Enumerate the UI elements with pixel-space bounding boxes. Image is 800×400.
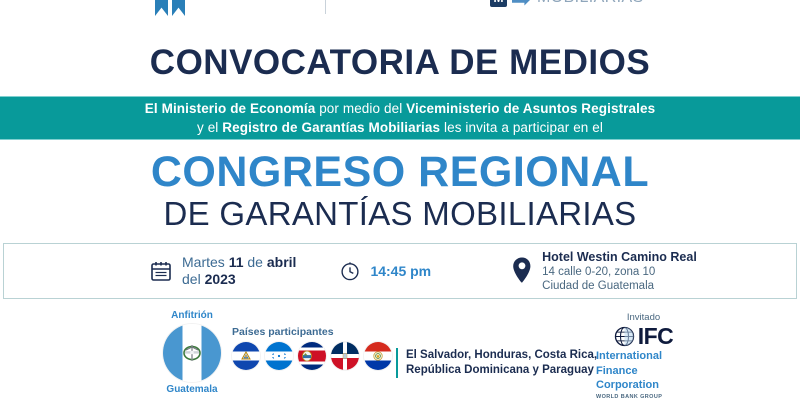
venue-city: Ciudad de Guatemala [542,279,697,293]
dominican-crest-icon [342,353,349,360]
map-pin-icon [511,256,533,286]
intro-connector-2: y el [197,120,222,135]
venue-cell: Hotel Westin Camino Real 14 calle 0-20, … [511,250,697,293]
intro-ministry: El Ministerio de Economía [145,101,316,116]
event-subtitle: DE GARANTÍAS MOBILIARIAS [0,195,800,233]
host-block: Anfitrión Guatemala [152,310,232,395]
intro-registry: Registro de Garantías Mobiliarias [222,120,440,135]
page-kicker: CONVOCATORIA DE MEDIOS [0,43,800,83]
poster: M MOBILIARIAS CONVOCATORIA DE MEDIOS El … [0,0,800,400]
date-line-2: del 2023 [182,271,296,288]
double-ribbon-icon [155,0,185,16]
intro-banner: El Ministerio de Economía por medio del … [0,96,800,140]
participants-block: Países participantes [232,326,392,370]
venue-name: Hotel Westin Camino Real [542,250,697,265]
honduras-stars-icon [271,353,287,360]
intro-connector-1: por medio del [315,101,406,116]
clock-icon [339,260,361,282]
guest-label: Invitado [596,312,691,323]
intro-banner-line-2: y el Registro de Garantías Mobiliarias l… [197,118,603,137]
world-bank-group-label: WORLD BANK GROUP [596,394,691,400]
venue-address: 14 calle 0-20, zona 10 [542,265,697,279]
ministry-logo [155,0,191,16]
event-details-bar: Martes 11 de abril del 2023 14:45 pm Hot… [3,243,797,299]
venue-text: Hotel Westin Camino Real 14 calle 0-20, … [542,250,697,293]
intro-banner-line-1: El Ministerio de Economía por medio del … [145,99,655,118]
flag-el-salvador-icon [232,342,260,370]
flag-dominican-republic-icon [331,342,359,370]
participants-label: Países participantes [232,326,392,338]
intro-connector-3: les invita a participar en el [440,120,603,135]
country-list-line-1: El Salvador, Honduras, Costa Rica, [406,348,597,363]
time-cell: 14:45 pm [339,260,431,282]
mobiliarias-logo: M MOBILIARIAS [490,0,644,7]
ifc-logo: IFC [596,325,691,348]
ifc-name-line-2: Finance [596,365,691,378]
flag-honduras-icon [265,342,293,370]
globe-icon [614,326,635,347]
date-of: de [244,254,267,270]
paraguay-emblem-icon [373,351,383,361]
ifc-acronym: IFC [638,325,674,348]
flag-paraguay-icon [364,342,392,370]
flag-guatemala-icon [163,324,221,382]
date-cell: Martes 11 de abril del 2023 [149,254,296,288]
time-value: 14:45 pm [370,263,431,279]
logo-divider [325,0,326,14]
el-salvador-emblem-icon [240,350,252,362]
participant-flag-row [232,342,392,370]
ifc-name-line-1: International [596,350,691,363]
flag-costa-rica-icon [298,342,326,370]
date-line-1: Martes 11 de abril [182,254,296,271]
event-title: CONGRESO REGIONAL [0,148,800,197]
date-month: abril [267,254,297,270]
guatemala-crest-icon [181,342,203,364]
guest-logo-block: Invitado IFC International Finance Corpo… [596,312,691,400]
logo-strip: M MOBILIARIAS [0,0,800,22]
host-name: Guatemala [152,384,232,395]
date-year: 2023 [205,271,236,287]
arrow-right-icon [512,0,532,6]
mobiliarias-logo-word: MOBILIARIAS [537,0,644,7]
date-text: Martes 11 de abril del 2023 [182,254,296,288]
intro-viceministry: Viceministerio de Asuntos Registrales [406,101,655,116]
participant-country-list: El Salvador, Honduras, Costa Rica, Repúb… [396,348,597,378]
ifc-name-line-3: Corporation [596,379,691,392]
date-day: 11 [229,254,244,270]
calendar-icon [149,259,173,283]
host-label: Anfitrión [152,310,232,321]
date-weekday: Martes [182,254,229,270]
countries-band: Anfitrión Guatemala Países participantes [0,308,800,400]
costa-rica-emblem-icon [301,351,312,362]
m-mark-icon: M [490,0,507,7]
date-del: del [182,271,205,287]
country-list-line-2: República Dominicana y Paraguay [406,363,597,378]
